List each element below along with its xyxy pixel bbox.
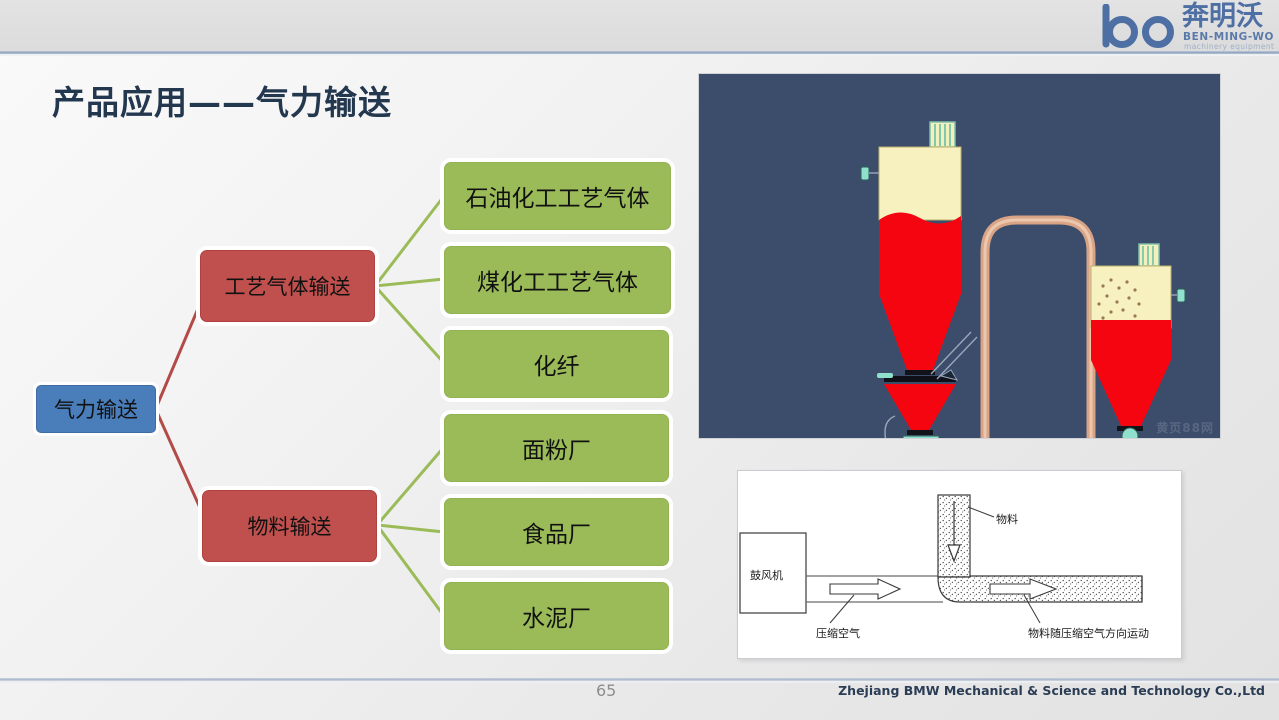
diagram-leaf-coal-chemical-gas-label: 煤化工工艺气体 [477, 263, 638, 297]
blower-label: 鼓风机 [750, 568, 783, 582]
application-tree-diagram: 气力输送 工艺气体输送 物料输送 石油化工工艺气体 煤化工工艺气体 化纤 面粉厂… [0, 60, 700, 660]
diagram-leaf-food-factory-label: 食品厂 [522, 515, 591, 549]
bo-monogram-icon [1096, 4, 1180, 48]
pneumatic-conveying-animation: M M [698, 73, 1221, 439]
diagram-leaf-flour-mill-label: 面粉厂 [522, 431, 591, 465]
company-footer-text: Zhejiang BMW Mechanical & Science and Te… [838, 683, 1265, 698]
diagram-leaf-cement-plant[interactable]: 水泥厂 [444, 582, 669, 650]
compressed-air-label: 压缩空气 [816, 626, 860, 640]
logo-tagline: machinery equipment [1184, 42, 1274, 51]
diagram-node-material-label: 物料输送 [248, 511, 332, 541]
material-label: 物料 [996, 512, 1018, 526]
diagram-leaf-cement-plant-label: 水泥厂 [522, 599, 591, 633]
header-band [0, 0, 1279, 52]
material-flow-label: 物料随压缩空气方向运动 [1028, 626, 1149, 640]
diagram-node-process-gas[interactable]: 工艺气体输送 [200, 250, 375, 322]
schematic-graphic: 鼓风机 压缩空气 物料随压缩空气方向运动 [738, 471, 1181, 658]
company-logo: 奔明沃 BEN-MING-WO machinery equipment [1096, 2, 1271, 52]
header-divider-soft [0, 54, 1279, 56]
slide-canvas: 奔明沃 BEN-MING-WO machinery equipment 产品应用… [0, 0, 1279, 720]
diagram-leaf-chemical-fiber[interactable]: 化纤 [444, 330, 669, 398]
diagram-node-process-gas-label: 工艺气体输送 [225, 271, 351, 301]
diagram-leaf-coal-chemical-gas[interactable]: 煤化工工艺气体 [444, 246, 671, 314]
diagram-leaf-food-factory[interactable]: 食品厂 [444, 498, 669, 566]
diagram-node-root[interactable]: 气力输送 [36, 385, 156, 433]
diagram-leaf-chemical-fiber-label: 化纤 [534, 347, 580, 381]
image-watermark: 黄页88网 [1156, 419, 1214, 436]
diagram-leaf-petrochemical-gas[interactable]: 石油化工工艺气体 [444, 162, 671, 230]
pneumatic-conveying-graphic: M M [699, 74, 1220, 438]
diagram-node-root-label: 气力输送 [54, 394, 138, 424]
logo-chinese-name: 奔明沃 [1182, 2, 1263, 32]
diagram-leaf-flour-mill[interactable]: 面粉厂 [444, 414, 669, 482]
page-number: 65 [596, 681, 616, 700]
diagram-node-material[interactable]: 物料输送 [202, 490, 377, 562]
diagram-leaf-petrochemical-gas-label: 石油化工工艺气体 [466, 179, 650, 213]
pneumatic-conveying-schematic: 鼓风机 压缩空气 物料随压缩空气方向运动 [737, 470, 1182, 659]
